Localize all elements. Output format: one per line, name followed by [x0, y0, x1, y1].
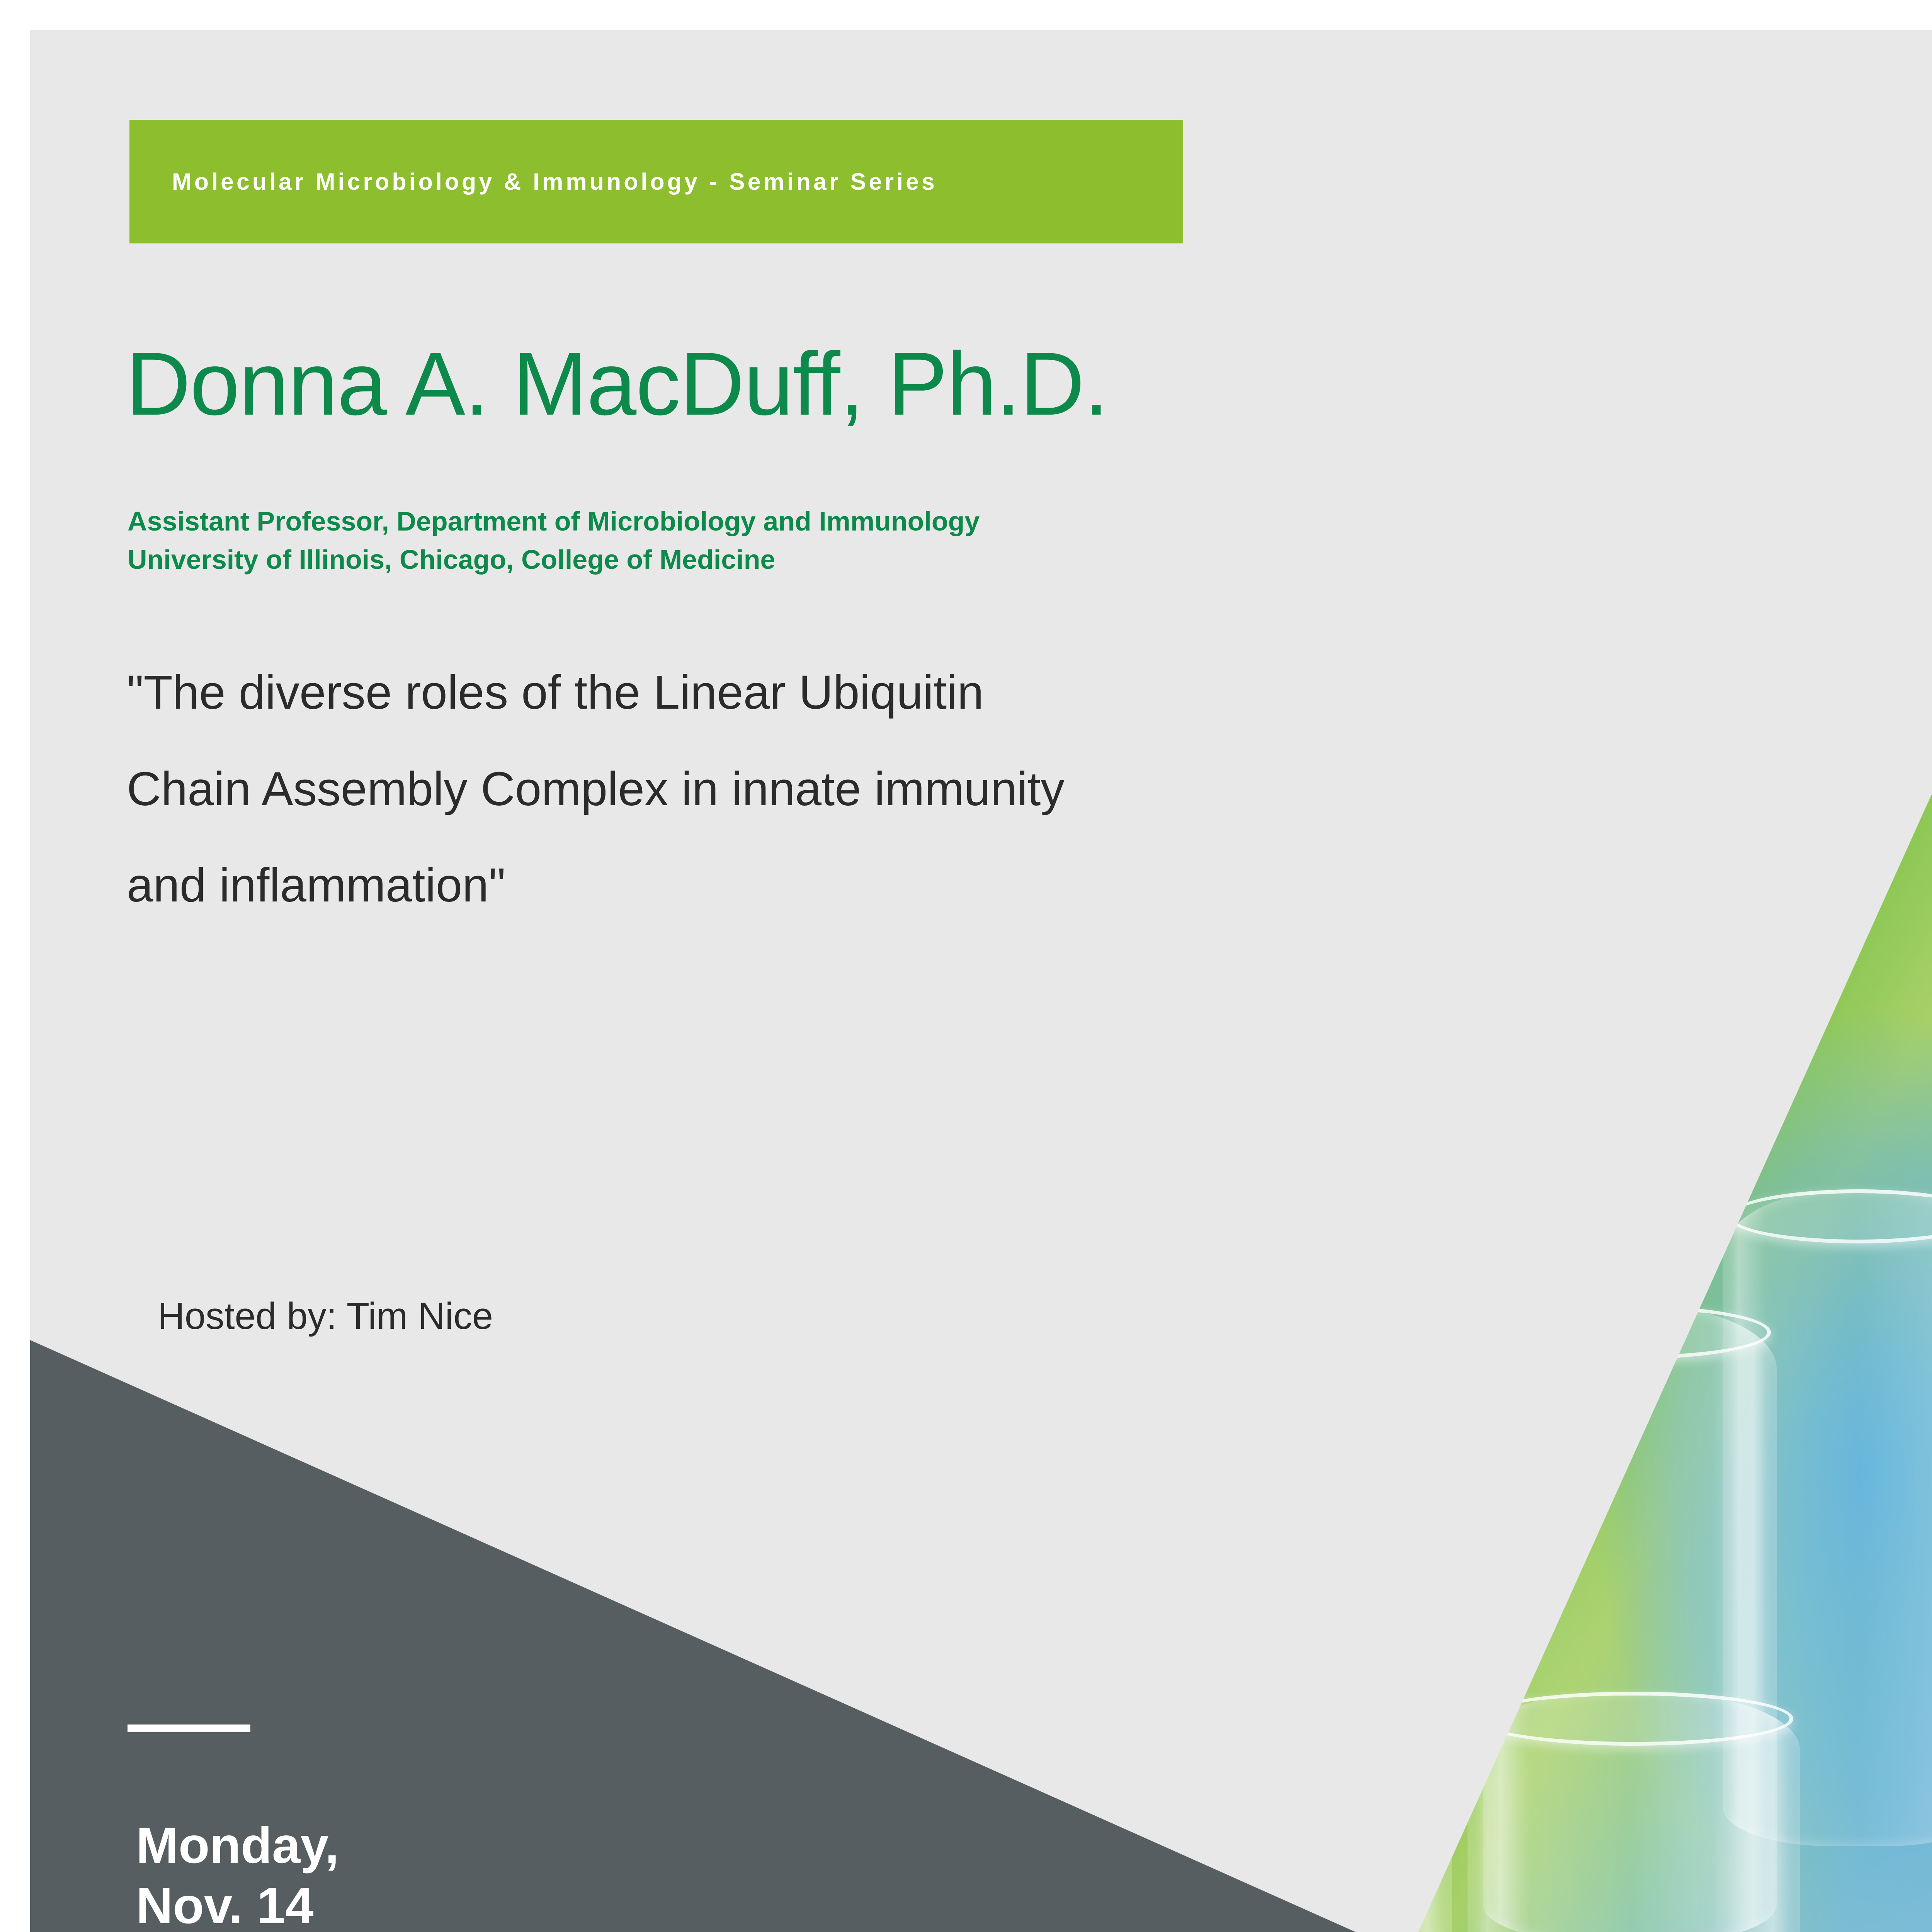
test-tube [1228, 1135, 1498, 1773]
test-tube [1468, 1692, 1800, 1932]
event-date: Monday, Nov. 14 [136, 1815, 339, 1932]
divider-rule [128, 1725, 250, 1732]
speaker-name: Donna A. MacDuff, Ph.D. [126, 339, 1108, 429]
seminar-series-label: Molecular Microbiology & Immunology - Se… [129, 168, 937, 195]
hosted-by: Hosted by: Tim Nice [158, 1294, 493, 1338]
poster-canvas: Molecular Microbiology & Immunology - Se… [30, 30, 1932, 1932]
affiliation-line-2: University of Illinois, Chicago, College… [128, 541, 980, 579]
seminar-series-banner: Molecular Microbiology & Immunology - Se… [129, 120, 1183, 243]
talk-title-line-1: "The diverse roles of the Linear Ubiquit… [127, 645, 1750, 741]
talk-title: "The diverse roles of the Linear Ubiquit… [127, 645, 1750, 934]
talk-title-line-2: Chain Assembly Complex in innate immunit… [127, 741, 1750, 838]
affiliation-line-1: Assistant Professor, Department of Micro… [128, 502, 980, 541]
liquid-droplet-icon [1020, 990, 1094, 1087]
speaker-affiliation: Assistant Professor, Department of Micro… [128, 502, 980, 579]
talk-title-line-3: and inflammation" [127, 837, 1750, 934]
